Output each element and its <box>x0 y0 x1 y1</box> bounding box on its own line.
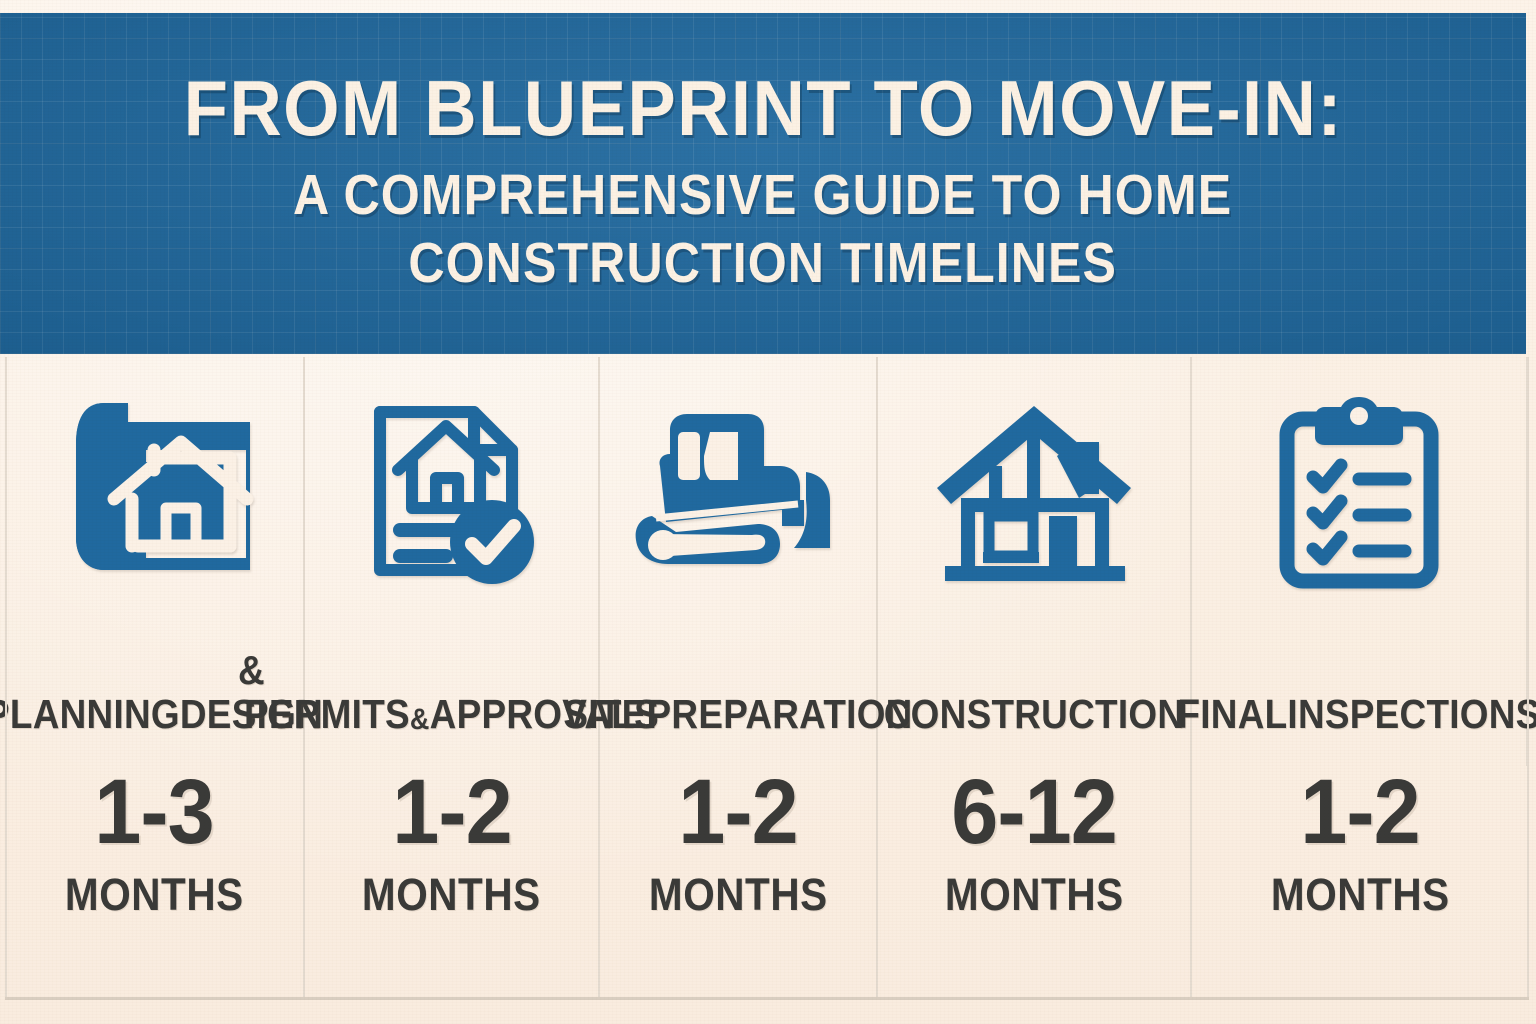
stage-cell-final-inspections[interactable]: FINALINSPECTIONS <box>1192 357 1528 766</box>
stage-cell-construction[interactable]: CONSTRUCTION <box>878 357 1192 766</box>
duration-cell-permits-approvals[interactable]: 1-2 MONTHS <box>305 766 600 999</box>
stage-label-construction: CONSTRUCTION <box>894 609 1175 766</box>
duration-unit: MONTHS <box>362 872 541 917</box>
grid-left-border <box>5 357 7 999</box>
bulldozer-icon <box>600 357 876 609</box>
duration-cell-construction[interactable]: 6-12 MONTHS <box>878 766 1192 999</box>
duration-value: 1-2 <box>392 766 512 858</box>
grid-bottom-border <box>5 997 1529 1000</box>
duration-value: 6-12 <box>951 766 1117 858</box>
stage-label-planning-design: PLANNING& DESIGN <box>20 609 288 766</box>
clipboard-checklist-icon <box>1192 357 1526 609</box>
stage-cell-site-preparation[interactable]: SITEPREPARATION <box>600 357 878 766</box>
duration-unit: MONTHS <box>945 872 1124 917</box>
duration-unit: MONTHS <box>65 872 244 917</box>
page-subtitle-line2: CONSTRUCTION TIMELINES <box>409 230 1118 297</box>
duration-value: 1-3 <box>94 766 214 858</box>
house-frame-icon <box>878 357 1190 609</box>
header-banner: FROM BLUEPRINT TO MOVE-IN: A COMPREHENSI… <box>0 13 1526 354</box>
stage-cell-permits-approvals[interactable]: PERMITS& APPROVALS <box>305 357 600 766</box>
page-title: FROM BLUEPRINT TO MOVE-IN: <box>183 70 1342 146</box>
duration-cell-planning-design[interactable]: 1-3 MONTHS <box>5 766 305 999</box>
duration-unit: MONTHS <box>1271 872 1450 917</box>
document-house-check-icon <box>305 357 598 609</box>
duration-cell-site-preparation[interactable]: 1-2 MONTHS <box>600 766 878 999</box>
infographic-root: FROM BLUEPRINT TO MOVE-IN: A COMPREHENSI… <box>0 0 1536 1024</box>
duration-value: 1-2 <box>678 766 798 858</box>
blueprint-roll-house-icon <box>5 357 303 609</box>
duration-value: 1-2 <box>1300 766 1420 858</box>
stage-label-site-preparation: SITEPREPARATION <box>614 609 862 766</box>
duration-cell-final-inspections[interactable]: 1-2 MONTHS <box>1192 766 1528 999</box>
page-subtitle-line1: A COMPREHENSIVE GUIDE TO HOME <box>293 162 1232 229</box>
grid-right-border <box>1527 357 1529 999</box>
duration-unit: MONTHS <box>649 872 828 917</box>
stage-grid: PLANNING& DESIGN <box>5 357 1528 999</box>
stage-label-final-inspections: FINALINSPECTIONS <box>1209 609 1510 766</box>
stage-label-permits-approvals: PERMITS& APPROVALS <box>320 609 584 766</box>
